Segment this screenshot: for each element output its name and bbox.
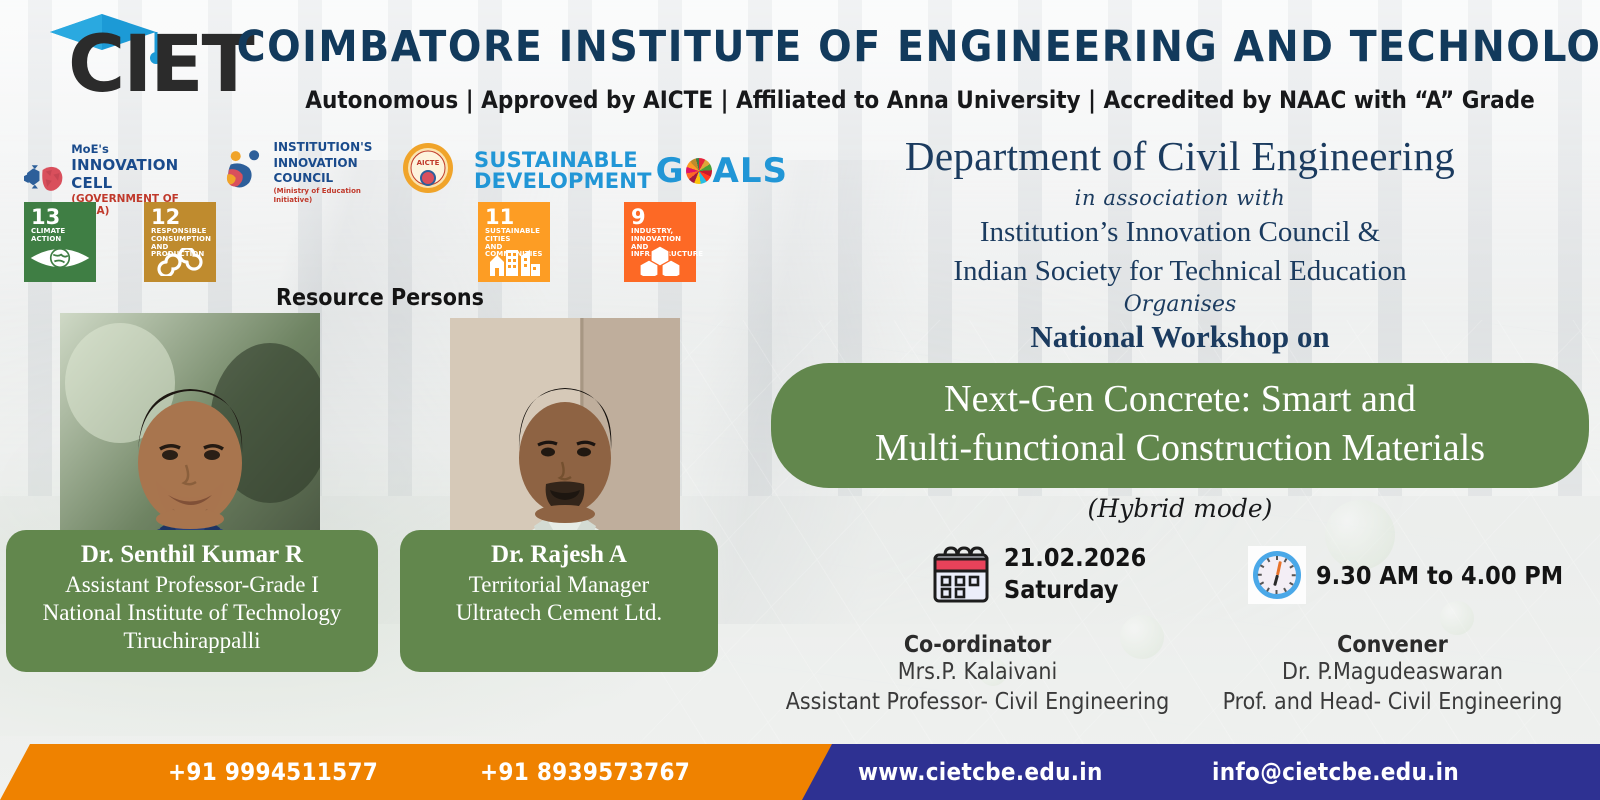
calendar-icon xyxy=(930,543,992,605)
event-time: 9.30 AM to 4.00 PM xyxy=(1316,561,1563,590)
institute-name: COIMBATORE INSTITUTE OF ENGINEERING AND … xyxy=(237,22,1600,72)
accreditation-line: Autonomous | Approved by AICTE | Affilia… xyxy=(250,86,1590,114)
coordinator-designation: Assistant Professor- Civil Engineering xyxy=(770,688,1185,718)
footer-website[interactable]: www.cietcbe.edu.in xyxy=(858,744,1103,800)
resource-persons-title: Resource Persons xyxy=(250,285,510,311)
resource-person-2-name: Dr. Rajesh A xyxy=(408,540,710,571)
event-mode: (Hybrid mode) xyxy=(770,494,1590,523)
convener-name: Dr. P.Magudeaswaran xyxy=(1185,658,1600,688)
svg-text:AICTE: AICTE xyxy=(417,159,440,167)
sdg-11-number: 11 xyxy=(485,208,514,228)
date-time-row: 21.02.2026 Saturday 9.30 AM t xyxy=(770,540,1600,620)
footer-phone-1[interactable]: +91 9994511577 xyxy=(168,744,378,800)
moe-line2: INNOVATION CELL xyxy=(71,156,190,193)
resource-person-2-line1: Territorial Manager xyxy=(408,571,710,599)
eye-earth-icon xyxy=(24,240,96,276)
resource-person-1-name: Dr. Senthil Kumar R xyxy=(14,540,370,571)
event-date-text: 21.02.2026 Saturday xyxy=(1004,542,1146,606)
sdg-12-number: 12 xyxy=(151,208,180,228)
moe-line1: MoE's xyxy=(71,142,190,156)
sdg-goal-9: 9 INDUSTRY, INNOVATION AND INFRASTRUCTUR… xyxy=(624,202,696,282)
event-day: Saturday xyxy=(1004,574,1146,606)
organizers-row: Co-ordinator Mrs.P. Kalaivani Assistant … xyxy=(770,632,1600,718)
aicte-logo-icon: AICTE xyxy=(402,142,454,194)
partner-org-2: Indian Society for Technical Education xyxy=(770,255,1590,288)
iic-people-icon xyxy=(224,145,267,199)
convener-role: Convener xyxy=(1185,632,1600,658)
iic-subline: (Ministry of Education Initiative) xyxy=(273,187,380,205)
infinity-icon xyxy=(144,248,216,276)
resource-person-1-line2: National Institute of Technology xyxy=(14,599,370,627)
resource-person-1-line3: Tiruchirappalli xyxy=(14,627,370,655)
workshop-title-banner: Next-Gen Concrete: Smart and Multi-funct… xyxy=(771,363,1589,488)
sdg-word-development: DEVELOPMENT xyxy=(474,171,652,192)
coordinator-name: Mrs.P. Kalaivani xyxy=(770,658,1185,688)
iic-logo-text: INSTITUTION'S INNOVATION COUNCIL (Minist… xyxy=(273,140,380,205)
sdg-words: SUSTAINABLE DEVELOPMENT xyxy=(474,150,652,193)
ciet-logo-text: CIET xyxy=(68,26,253,104)
coordinator-block: Co-ordinator Mrs.P. Kalaivani Assistant … xyxy=(770,632,1185,718)
sdg-colour-wheel-icon xyxy=(686,158,712,184)
convener-designation: Prof. and Head- Civil Engineering xyxy=(1185,688,1600,718)
footer-orange-band xyxy=(0,744,848,800)
ciet-logo: CIET xyxy=(24,8,264,116)
cubes-icon xyxy=(624,244,696,276)
iic-logo: INSTITUTION'S INNOVATION COUNCIL (Minist… xyxy=(224,140,381,205)
partner-org-1: Institution’s Innovation Council & xyxy=(770,216,1590,249)
workshop-title-line2: Multi-functional Construction Materials xyxy=(795,424,1565,473)
iic-line1: INSTITUTION'S xyxy=(273,140,380,156)
resource-person-1-line1: Assistant Professor-Grade I xyxy=(14,571,370,599)
iic-line3: COUNCIL xyxy=(273,171,380,187)
organises-label: Organises xyxy=(770,292,1590,317)
sdg-goal-13: 13 CLIMATE ACTION xyxy=(24,202,96,282)
clock-icon-wrapper xyxy=(1248,546,1306,604)
sdg-letter-g: G xyxy=(656,151,685,191)
sdg-13-number: 13 xyxy=(31,208,60,228)
department-name: Department of Civil Engineering xyxy=(770,132,1590,180)
footer-phone-2[interactable]: +91 8939573767 xyxy=(480,744,690,800)
sdg-9-number: 9 xyxy=(631,208,646,228)
resource-person-card-1: Dr. Senthil Kumar R Assistant Professor-… xyxy=(6,530,378,672)
resource-person-card-2: Dr. Rajesh A Territorial Manager Ultrate… xyxy=(400,530,718,672)
poster-footer: +91 9994511577 +91 8939573767 www.cietcb… xyxy=(0,744,1600,800)
footer-email[interactable]: info@cietcbe.edu.in xyxy=(1212,744,1459,800)
gear-brain-icon xyxy=(24,159,64,201)
clock-icon xyxy=(1253,551,1301,599)
association-label: in association with xyxy=(770,186,1590,210)
event-type: National Workshop on xyxy=(770,319,1590,355)
event-details: Department of Civil Engineering in assoc… xyxy=(770,132,1590,523)
event-time-block: 9.30 AM to 4.00 PM xyxy=(1248,546,1563,604)
event-date-block: 21.02.2026 Saturday xyxy=(930,542,1146,606)
poster-header: CIET COIMBATORE INSTITUTE OF ENGINEERING… xyxy=(0,0,1600,128)
sdg-goal-11: 11 SUSTAINABLE CITIES AND COMMUNITIES xyxy=(478,202,550,282)
sdg-goal-12: 12 RESPONSIBLE CONSUMPTION AND PRODUCTIO… xyxy=(144,202,216,282)
sdg-goals-word: G ALS xyxy=(656,151,788,191)
city-buildings-icon xyxy=(478,242,550,276)
resource-person-2-line2: Ultratech Cement Ltd. xyxy=(408,599,710,627)
sdg-word-sustainable: SUSTAINABLE xyxy=(474,150,652,171)
iic-line2: INNOVATION xyxy=(273,156,380,172)
sdg-header: SUSTAINABLE DEVELOPMENT G ALS xyxy=(474,150,788,193)
convener-block: Convener Dr. P.Magudeaswaran Prof. and H… xyxy=(1185,632,1600,718)
coordinator-role: Co-ordinator xyxy=(770,632,1185,658)
event-date: 21.02.2026 xyxy=(1004,542,1146,574)
workshop-title-line1: Next-Gen Concrete: Smart and xyxy=(795,375,1565,424)
